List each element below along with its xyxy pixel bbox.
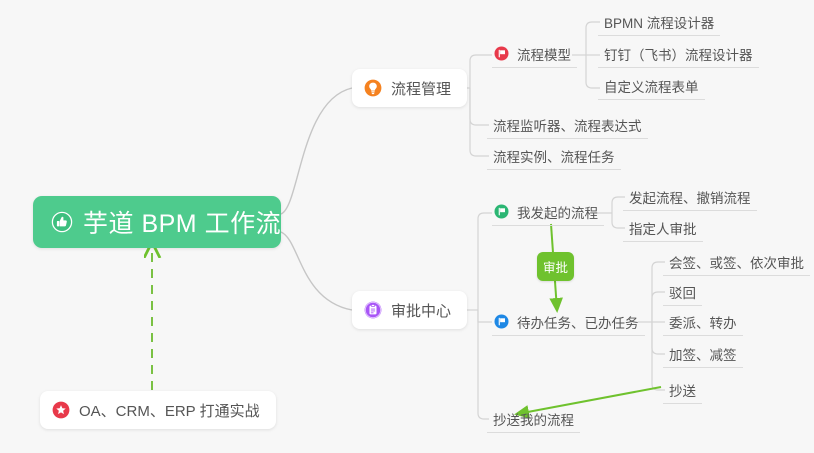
sub-node-process-model[interactable]: 流程模型 (492, 40, 577, 68)
callout-label: OA、CRM、ERP 打通实战 (79, 400, 260, 421)
sub-node-label: 待办任务、已办任务 (517, 312, 639, 332)
leaf-node[interactable]: 加签、减签 (663, 341, 743, 368)
thumbs-up-icon (51, 211, 73, 233)
sub-node-label: 我发起的流程 (517, 202, 598, 222)
leaf-node[interactable]: 钉钉（飞书）流程设计器 (598, 41, 759, 68)
leaf-node[interactable]: 自定义流程表单 (598, 73, 705, 100)
sub-node-todo-done-tasks[interactable]: 待办任务、已办任务 (492, 308, 645, 336)
leaf-node[interactable]: 抄送 (663, 377, 702, 404)
clipboard-icon (364, 301, 382, 319)
branch-label: 流程管理 (391, 78, 451, 99)
branch-label: 审批中心 (391, 300, 451, 321)
flag-icon (494, 204, 509, 219)
leaf-node[interactable]: 发起流程、撤销流程 (623, 184, 757, 211)
leaf-node[interactable]: 指定人审批 (623, 215, 703, 242)
approval-badge-label: 审批 (543, 257, 568, 276)
leaf-node[interactable]: BPMN 流程设计器 (598, 9, 720, 36)
branch-node-process-management[interactable]: 流程管理 (352, 69, 467, 107)
star-icon (52, 401, 70, 419)
sub-node-label: 流程模型 (517, 44, 571, 64)
flag-icon (494, 314, 509, 329)
mindmap-canvas: 芋道 BPM 工作流 流程管理 审批中心 (0, 0, 814, 453)
root-label: 芋道 BPM 工作流 (83, 204, 281, 240)
leaf-node[interactable]: 抄送我的流程 (487, 406, 580, 433)
branch-node-approval-center[interactable]: 审批中心 (352, 291, 467, 329)
sub-node-my-started-processes[interactable]: 我发起的流程 (492, 198, 604, 226)
leaf-node[interactable]: 会签、或签、依次审批 (663, 249, 810, 276)
flag-icon (494, 46, 509, 61)
leaf-node[interactable]: 流程实例、流程任务 (487, 143, 621, 170)
leaf-node[interactable]: 流程监听器、流程表达式 (487, 112, 648, 139)
root-node[interactable]: 芋道 BPM 工作流 (33, 196, 281, 248)
leaf-node[interactable]: 驳回 (663, 279, 702, 306)
callout-node-integration[interactable]: OA、CRM、ERP 打通实战 (40, 391, 276, 429)
approval-badge[interactable]: 审批 (537, 252, 574, 281)
lightbulb-icon (364, 79, 382, 97)
leaf-node[interactable]: 委派、转办 (663, 309, 743, 336)
